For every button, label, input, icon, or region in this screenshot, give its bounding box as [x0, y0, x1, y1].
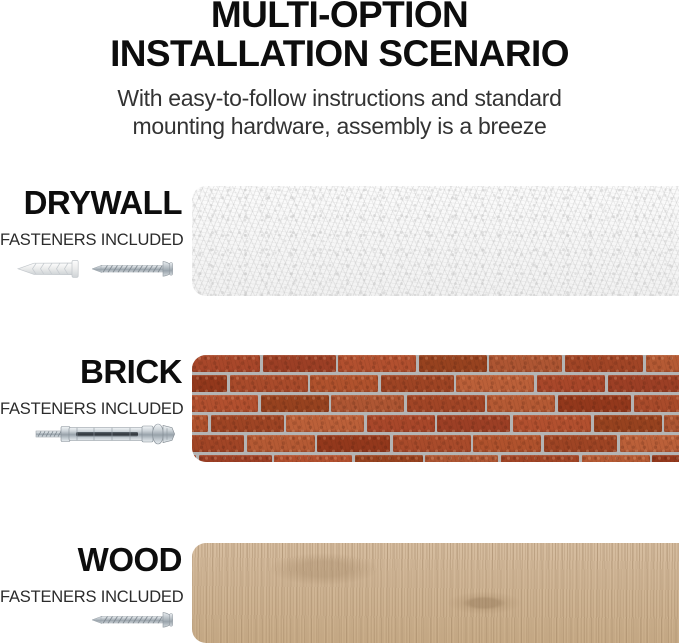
brick-unit — [513, 415, 591, 432]
wall-anchor-icon — [18, 260, 78, 277]
material-name-wood: WOOD — [0, 543, 182, 576]
brick-unit — [192, 355, 260, 372]
brick-unit — [489, 355, 562, 372]
drywall-hardware-group — [0, 252, 182, 292]
brick-unit — [594, 415, 662, 432]
subtitle: With easy-to-follow instructions and sta… — [0, 84, 679, 140]
brick-unit — [192, 395, 258, 412]
brick-unit — [192, 415, 208, 432]
brick-unit — [331, 395, 404, 412]
brick-unit — [199, 455, 272, 462]
page-title-line-2: INSTALLATION SCENARIO — [0, 36, 679, 72]
brick-row — [192, 375, 679, 392]
brick-unit — [393, 435, 471, 452]
brick-unit — [263, 355, 336, 372]
brick-row — [192, 415, 679, 432]
brick-hardware-group — [0, 415, 182, 457]
brick-unit — [456, 375, 534, 392]
subtitle-line-2: mounting hardware, assembly is a breeze — [0, 112, 679, 140]
material-name-drywall: DRYWALL — [0, 186, 182, 219]
wood-texture-swatch — [192, 543, 679, 643]
drywall-fastener-illustration — [6, 252, 182, 286]
material-name-brick: BRICK — [0, 355, 182, 388]
brick-unit — [381, 375, 454, 392]
brick-unit — [646, 355, 679, 372]
brick-unit — [582, 455, 650, 462]
drywall-labels: DRYWALL FASTENERS INCLUDED — [0, 186, 182, 249]
brick-unit — [419, 355, 487, 372]
page-title-line-1: MULTI-OPTION — [0, 0, 679, 33]
screw-icon — [92, 262, 173, 277]
wood-screw-illustration — [6, 603, 182, 637]
brick-row — [192, 435, 679, 452]
section-drywall: DRYWALL FASTENERS INCLUDED — [0, 186, 679, 308]
brick-unit — [367, 415, 435, 432]
brick-unit — [274, 455, 352, 462]
sleeve-anchor-illustration — [6, 415, 182, 453]
brick-unit — [355, 455, 423, 462]
fasteners-included-note-drywall: FASTENERS INCLUDED — [0, 232, 182, 249]
brick-unit — [544, 435, 617, 452]
brick-unit — [664, 415, 679, 432]
installation-scenario-infographic: MULTI-OPTION INSTALLATION SCENARIO With … — [0, 0, 679, 643]
brick-unit — [537, 375, 605, 392]
drywall-texture-swatch — [192, 186, 679, 296]
brick-unit — [317, 435, 390, 452]
brick-texture-swatch — [192, 355, 679, 462]
subtitle-line-1: With easy-to-follow instructions and sta… — [0, 84, 679, 112]
brick-unit — [634, 395, 679, 412]
brick-row — [192, 455, 679, 462]
screw-icon — [92, 613, 173, 628]
brick-unit — [487, 395, 555, 412]
sleeve-anchor-icon — [36, 424, 175, 444]
brick-unit — [425, 455, 498, 462]
section-brick: BRICK FASTENERS INCLUDED — [0, 355, 679, 462]
section-wood: WOOD FASTENERS INCLUDED — [0, 543, 679, 643]
brick-unit — [338, 355, 416, 372]
brick-unit — [558, 395, 631, 412]
brick-unit — [608, 375, 679, 392]
brick-unit — [565, 355, 643, 372]
brick-unit — [501, 455, 579, 462]
brick-unit — [473, 435, 541, 452]
brick-unit — [192, 455, 196, 462]
brick-row — [192, 395, 679, 412]
brick-unit — [247, 435, 315, 452]
brick-labels: BRICK FASTENERS INCLUDED — [0, 355, 182, 418]
brick-row — [192, 355, 679, 372]
brick-unit — [407, 395, 485, 412]
brick-unit — [211, 415, 284, 432]
brick-unit — [437, 415, 510, 432]
brick-unit — [652, 455, 679, 462]
wood-labels: WOOD FASTENERS INCLUDED — [0, 543, 182, 606]
wood-hardware-group — [0, 603, 182, 643]
brick-unit — [192, 435, 244, 452]
header: MULTI-OPTION INSTALLATION SCENARIO With … — [0, 0, 679, 140]
brick-unit — [192, 375, 227, 392]
brick-unit — [620, 435, 679, 452]
brick-unit — [286, 415, 364, 432]
brick-unit — [230, 375, 308, 392]
brick-unit — [310, 375, 378, 392]
brick-unit — [261, 395, 329, 412]
